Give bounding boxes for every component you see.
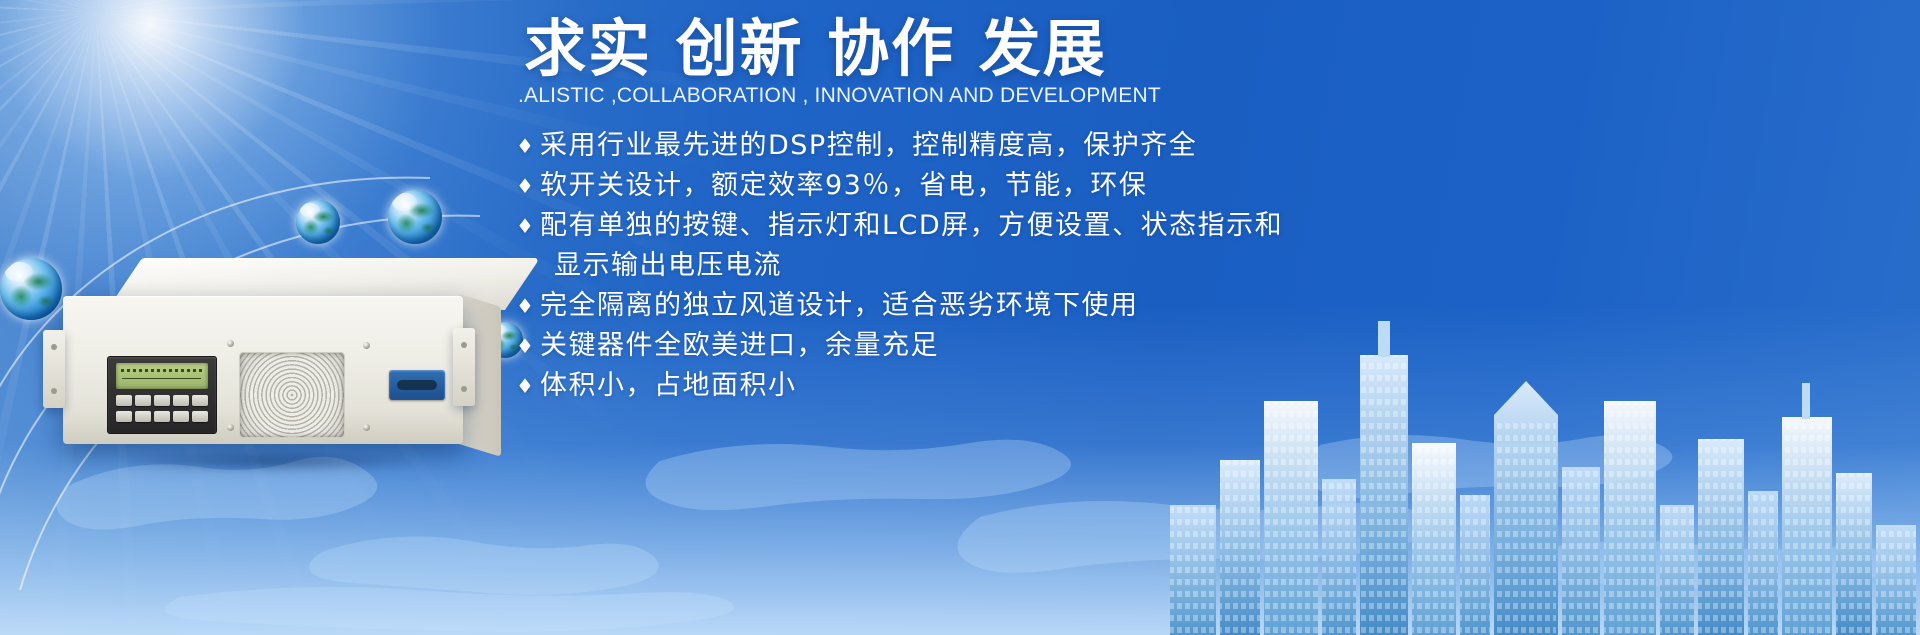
device-front-panel [63,296,463,444]
diamond-bullet-icon: ♦ [516,206,540,246]
feature-text: 软开关设计，额定效率93％，省电，节能，环保 [540,166,1147,206]
feature-item: ♦完全隔离的独立风道设计，适合恶劣环境下使用 [516,286,1456,326]
rack-mount-power-supply [55,258,505,516]
feature-text: 体积小，占地面积小 [540,366,797,406]
screw-icon [227,340,234,347]
diamond-bullet-icon: ♦ [516,166,540,206]
feature-text: 配有单独的按键、指示灯和LCD屏，方便设置、状态指示和 [540,206,1283,246]
feature-item: ♦体积小，占地面积小 [516,366,1456,406]
feature-item: ♦关键器件全欧美进口，余量充足 [516,326,1456,366]
diamond-bullet-icon: ♦ [516,326,540,366]
feature-text: 完全隔离的独立风道设计，适合恶劣环境下使用 [540,286,1139,326]
keypad [116,395,208,427]
device-shadow [55,444,485,478]
vga-port [389,370,445,400]
screw-icon [363,342,370,349]
feature-text: 显示输出电压电流 [540,246,782,286]
feature-text: 采用行业最先进的DSP控制，控制精度高，保护齐全 [540,126,1197,166]
rack-ear-right [453,328,475,406]
feature-item: ♦采用行业最先进的DSP控制，控制精度高，保护齐全 [516,126,1456,166]
feature-item: ♦显示输出电压电流 [516,246,1456,286]
fan-grille [239,352,345,438]
feature-list: ♦采用行业最先进的DSP控制，控制精度高，保护齐全♦软开关设计，额定效率93％，… [516,126,1456,406]
diamond-bullet-icon: ♦ [516,126,540,166]
feature-item: ♦软开关设计，额定效率93％，省电，节能，环保 [516,166,1456,206]
promo-banner: 求实 创新 协作 发展 .ALISTIC ,COLLABORATION , IN… [0,0,1920,635]
diamond-bullet-icon: ♦ [516,286,540,326]
subtitle: .ALISTIC ,COLLABORATION , INNOVATION AND… [518,84,1456,108]
feature-item: ♦配有单独的按键、指示灯和LCD屏，方便设置、状态指示和 [516,206,1456,246]
screw-icon [363,424,370,431]
globe-icon [296,200,340,244]
control-panel [107,356,217,434]
device-top-panel [107,258,540,310]
device-side-panel [459,294,501,457]
globe-icon [0,258,62,320]
lcd-screen [116,363,208,389]
rack-ear-left [43,330,65,408]
feature-text: 关键器件全欧美进口，余量充足 [540,326,939,366]
banner-content: 求实 创新 协作 发展 .ALISTIC ,COLLABORATION , IN… [516,16,1456,406]
diamond-bullet-icon: ♦ [516,366,540,406]
headline: 求实 创新 协作 发展 [516,16,1456,82]
globe-icon [388,190,442,244]
screw-icon [227,424,234,431]
